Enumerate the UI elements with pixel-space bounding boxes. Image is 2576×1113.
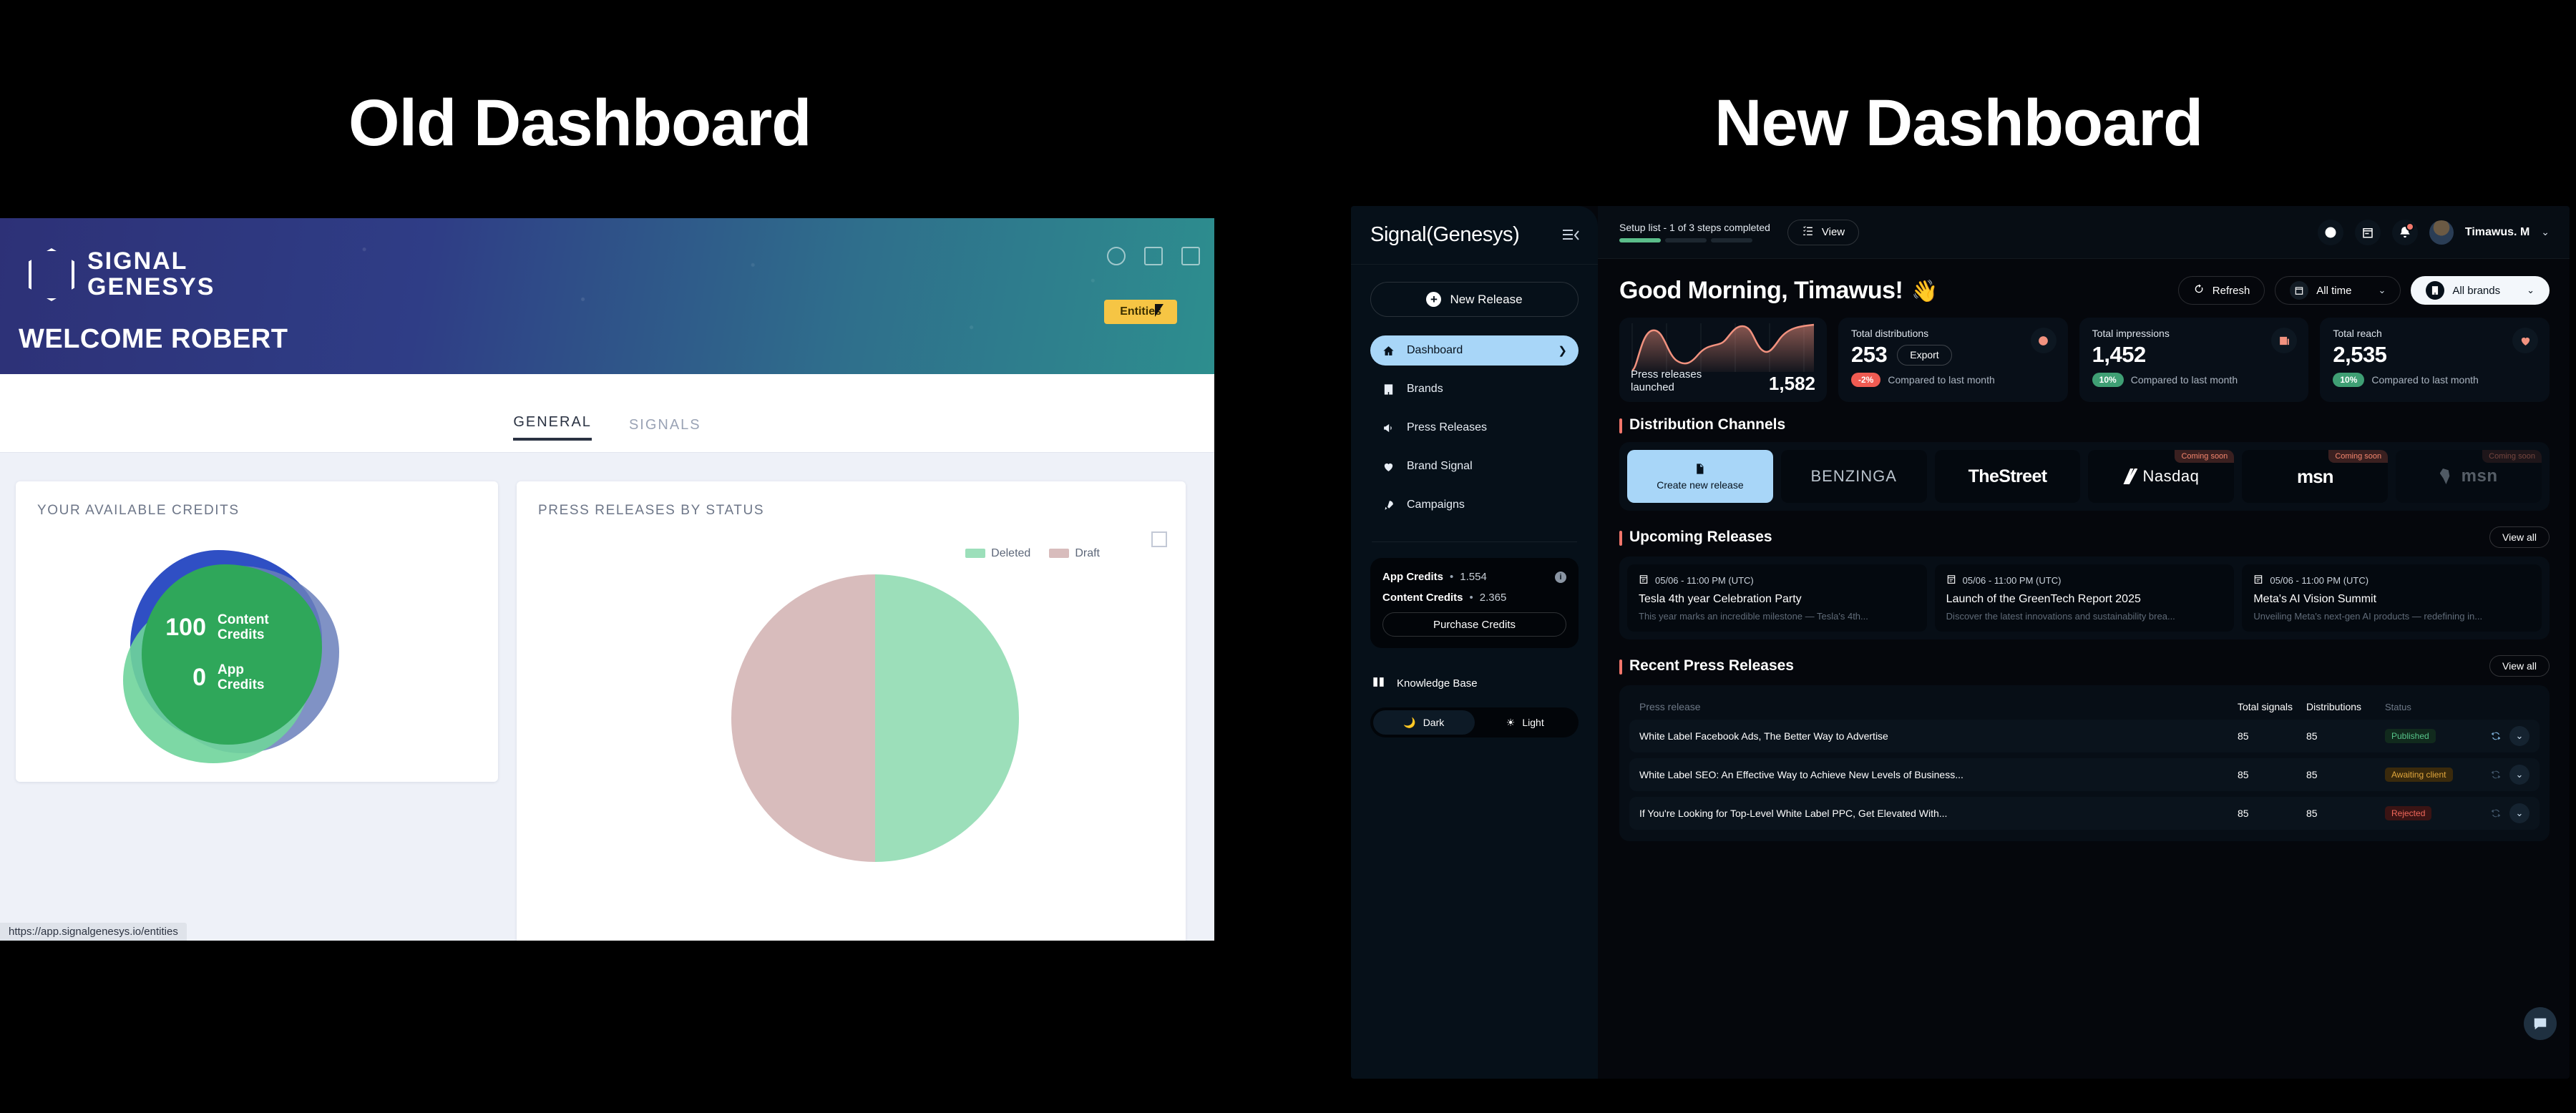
sparkline-chart (1619, 320, 1827, 375)
kpi-value: 1,452 (2092, 342, 2146, 368)
new-release-label: New Release (1450, 293, 1522, 307)
chevron-right-icon: ❯ (1558, 344, 1567, 357)
distribution-channels: Create new release BENZINGA TheStreet Co… (1619, 442, 2550, 511)
main-area: Setup list - 1 of 3 steps completed View (1598, 206, 2570, 1079)
setup-list-progress: Setup list - 1 of 3 steps completed (1619, 222, 1770, 242)
row-expand-chevron-icon[interactable]: ⌄ (2509, 803, 2529, 823)
kpi-title: Total impressions (2092, 328, 2296, 339)
resync-icon[interactable] (2489, 807, 2502, 820)
brand-line-2: GENESYS (87, 275, 215, 300)
sun-icon: ☀ (1506, 717, 1516, 729)
upcoming-release-desc: Discover the latest innovations and sust… (1946, 611, 2223, 622)
wave-emoji-icon: 👋 (1911, 280, 1938, 303)
brand-value: All brands (2452, 285, 2500, 297)
row-signals: 85 (2238, 730, 2306, 742)
create-new-release-tile[interactable]: Create new release (1627, 450, 1773, 503)
browser-status-bar-url: https://app.signalgenesys.io/entities (0, 923, 187, 941)
channel-benzinga[interactable]: BENZINGA (1781, 450, 1927, 503)
total-reach-card: Total reach 2,535 10% Compared to last m… (2320, 318, 2550, 402)
recent-press-releases-table: Press release Total signals Distribution… (1619, 685, 2550, 841)
moon-icon: 🌙 (1403, 717, 1415, 729)
recent-press-releases-title: Recent Press Releases (1619, 657, 1794, 675)
upcoming-release-date: 05/06 - 11:00 PM (UTC) (1963, 575, 2062, 586)
theme-option-light[interactable]: ☀ Light (1475, 710, 1576, 735)
upcoming-releases-title: Upcoming Releases (1619, 529, 1772, 546)
sidebar-item-label: Dashboard (1407, 344, 1463, 357)
status-badge: Awaiting client (2385, 768, 2453, 782)
legend-deleted: Deleted (965, 547, 1030, 560)
view-label: View (1822, 226, 1845, 238)
credits-separator: • (1450, 571, 1453, 583)
rocket-icon (1382, 499, 1395, 512)
time-range-select[interactable]: All time ⌄ (2275, 276, 2401, 305)
upcoming-release-title: Tesla 4th year Celebration Party (1639, 593, 1916, 606)
delta-badge: -2% (1851, 373, 1880, 387)
sidebar-item-knowledge-base[interactable]: Knowledge Base (1372, 675, 1579, 692)
app-credits-label: AppCredits (218, 663, 264, 693)
old-tab-bar[interactable]: GENERAL SIGNALS (0, 374, 1214, 453)
comparison-page: Old Dashboard New Dashboard SIGNAL GENES… (0, 0, 2576, 1113)
channel-thestreet[interactable]: TheStreet (1935, 450, 2081, 503)
sidebar-item-dashboard[interactable]: Dashboard ❯ (1370, 335, 1579, 366)
status-badge: Rejected (2385, 806, 2431, 820)
purchase-credits-button[interactable]: Purchase Credits (1382, 612, 1566, 637)
app-credits-value: 0 (165, 664, 206, 692)
resync-icon[interactable] (2489, 768, 2502, 781)
credits-card: App Credits • 1.554 i Content Credits • … (1370, 558, 1579, 648)
eye-icon (2031, 328, 2057, 353)
brand-select[interactable]: All brands ⌄ (2411, 276, 2550, 305)
nasdaq-logo: Nasdaq (2123, 467, 2199, 486)
chevron-down-icon: ⌄ (2527, 285, 2534, 296)
chat-support-button[interactable] (2524, 1007, 2557, 1040)
home-icon (1382, 344, 1395, 358)
column-press-release: Press release (1639, 701, 2238, 712)
building-icon (1382, 383, 1395, 396)
total-impressions-card: Total impressions 1,452 10% Compared to … (2079, 318, 2309, 402)
row-signals: 85 (2238, 808, 2306, 819)
avatar[interactable] (2429, 220, 2454, 245)
file-plus-icon (1694, 462, 1706, 476)
chevron-down-icon: ⌄ (2378, 285, 2386, 296)
msn-logo: msn (2440, 466, 2498, 486)
calendar-icon (2290, 281, 2308, 300)
row-title: White Label SEO: An Effective Way to Ach… (1639, 769, 2238, 780)
app-credits-label: App Credits (1382, 571, 1443, 583)
row-distributions: 85 (2306, 730, 2385, 742)
calendar-icon (2253, 574, 2263, 587)
old-brand-logo: SIGNAL GENESYS (29, 248, 215, 301)
table-row[interactable]: White Label SEO: An Effective Way to Ach… (1629, 758, 2540, 791)
content-credits-row: Content Credits • 2.365 (1382, 592, 1566, 604)
page-title: Good Morning, Timawus!👋 (1619, 277, 1938, 305)
content-credits-row: 100 ContentCredits (165, 613, 269, 643)
setup-progress-bars (1619, 238, 1770, 242)
table-header: Press release Total signals Distribution… (1629, 694, 2540, 720)
app-credits-row: App Credits • 1.554 i (1382, 571, 1566, 583)
compare-label: Compared to last month (2131, 374, 2238, 386)
recent-view-all-button[interactable]: View all (2489, 655, 2550, 677)
collapse-sidebar-icon[interactable] (1562, 228, 1579, 242)
fullscreen-icon[interactable] (1181, 247, 1200, 265)
sidebar-logo[interactable]: Signal(Genesys) (1370, 223, 1519, 247)
upcoming-release-title: Meta's AI Vision Summit (2253, 593, 2530, 606)
book-icon[interactable] (1144, 247, 1163, 265)
status-badge: Published (2385, 729, 2436, 743)
chevron-down-icon[interactable]: ⌄ (2541, 226, 2550, 238)
resync-icon[interactable] (2489, 730, 2502, 742)
old-hero-icon-group[interactable] (1107, 247, 1200, 265)
sidebar-item-label: Brands (1407, 383, 1443, 396)
press-releases-launched-card: Press releases launched 1,582 (1619, 318, 1827, 402)
channel-nasdaq[interactable]: Coming soon Nasdaq (2088, 450, 2234, 503)
available-credits-card: YOUR AVAILABLE CREDITS 100 ContentCredit… (16, 481, 498, 782)
coming-soon-badge: Coming soon (2328, 450, 2388, 463)
benzinga-logo: BENZINGA (1811, 467, 1897, 486)
building-icon (2426, 281, 2444, 300)
help-icon[interactable] (1107, 247, 1126, 265)
greeting-text: Good Morning, Timawus! (1619, 277, 1903, 304)
notification-badge (2406, 222, 2414, 231)
sidebar-item-brand-signal[interactable]: Brand Signal (1370, 451, 1579, 481)
table-row[interactable]: If You're Looking for Top-Level White La… (1629, 797, 2540, 830)
sidebar-item-campaigns[interactable]: Campaigns (1370, 490, 1579, 520)
sidebar-item-label: Campaigns (1407, 499, 1465, 511)
old-dashboard-screenshot: SIGNAL GENESYS Entities WELCOME ROBERT G… (0, 218, 1214, 941)
theme-toggle[interactable]: 🌙 Dark ☀ Light (1370, 707, 1579, 737)
view-setup-button[interactable]: View (1787, 220, 1859, 245)
kpi-value: 2,535 (2333, 342, 2386, 368)
credits-separator: • (1470, 592, 1473, 604)
new-release-button[interactable]: + New Release (1370, 282, 1579, 317)
column-distributions: Distributions (2306, 701, 2385, 712)
compare-label: Compared to last month (1888, 374, 1994, 386)
row-distributions: 85 (2306, 808, 2385, 819)
upcoming-release-date: 05/06 - 11:00 PM (UTC) (2270, 575, 2368, 586)
tab-signals[interactable]: SIGNALS (629, 417, 701, 441)
channel-msn[interactable]: Coming soon msn (2396, 450, 2542, 503)
row-expand-chevron-icon[interactable]: ⌄ (2509, 765, 2529, 785)
kpi-value: 253 (1851, 342, 1887, 368)
refresh-icon (2193, 283, 2205, 298)
content-credits-label: ContentCredits (218, 613, 269, 643)
megaphone-icon (1382, 421, 1395, 435)
press-releases-by-status-card: PRESS RELEASES BY STATUS Deleted Draft (517, 481, 1186, 941)
delta-badge: 10% (2092, 373, 2124, 387)
compare-label: Compared to last month (2371, 374, 2478, 386)
column-status: Status (2385, 702, 2471, 712)
total-distributions-card: Total distributions 253 Export -2% Compa… (1838, 318, 2068, 402)
checklist-icon (1802, 225, 1814, 240)
coming-soon-badge: Coming soon (2482, 450, 2542, 463)
table-row[interactable]: White Label Facebook Ads, The Better Way… (1629, 720, 2540, 752)
status-pie-chart (731, 574, 1019, 862)
refresh-label: Refresh (2212, 285, 2250, 297)
kpi-title: Total distributions (1851, 328, 2055, 339)
status-legend: Deleted Draft (965, 547, 1100, 560)
row-signals: 85 (2238, 769, 2306, 780)
export-icon[interactable] (1151, 531, 1167, 547)
nasdaq-mark-icon (2123, 469, 2137, 484)
heart-icon (1382, 460, 1395, 474)
app-credits-value: 1.554 (1460, 571, 1487, 583)
distribution-channels-title: Distribution Channels (1619, 416, 1785, 433)
book-icon (1372, 675, 1385, 692)
content-credits-value: 2.365 (1480, 592, 1507, 604)
kpi-title: Total reach (2333, 328, 2537, 339)
old-hero-banner: SIGNAL GENESYS Entities WELCOME ROBERT (0, 218, 1214, 374)
tab-general[interactable]: GENERAL (513, 414, 592, 441)
export-button[interactable]: Export (1897, 345, 1951, 366)
heart-icon (2512, 328, 2538, 353)
app-credits-row: 0 AppCredits (165, 663, 269, 693)
theme-option-dark[interactable]: 🌙 Dark (1373, 710, 1475, 735)
upcoming-release-card[interactable]: 05/06 - 11:00 PM (UTC) Launch of the Gre… (1935, 564, 2235, 632)
user-name[interactable]: Timawus. M (2465, 226, 2529, 239)
new-dashboard-heading: New Dashboard (1714, 86, 2202, 161)
time-range-value: All time (2316, 285, 2351, 297)
mouse-cursor-icon (1155, 304, 1169, 317)
brand-line-1: SIGNAL (87, 249, 215, 275)
upcoming-release-card[interactable]: 05/06 - 11:00 PM (UTC) Tesla 4th year Ce… (1627, 564, 1927, 632)
delta-badge: 10% (2333, 373, 2364, 387)
stat-cards: Press releases launched 1,582 Total dist… (1619, 318, 2550, 402)
legend-draft: Draft (1049, 547, 1100, 560)
row-title: If You're Looking for Top-Level White La… (1639, 808, 2238, 819)
sidebar-item-label: Brand Signal (1407, 460, 1473, 473)
chat-icon (2532, 1016, 2548, 1031)
sidebar-item-label: Press Releases (1407, 421, 1487, 434)
upcoming-release-desc: Unveiling Meta's next-gen AI products — … (2253, 611, 2530, 622)
upcoming-release-card[interactable]: 05/06 - 11:00 PM (UTC) Meta's AI Vision … (2242, 564, 2542, 632)
notifications-bell-icon[interactable] (2392, 220, 2418, 245)
yahoo-logo: msn (2297, 466, 2333, 488)
old-dashboard-heading: Old Dashboard (348, 86, 811, 161)
row-distributions: 85 (2306, 769, 2385, 780)
press-releases-by-status-title: PRESS RELEASES BY STATUS (517, 481, 1186, 519)
old-welcome-text: WELCOME ROBERT (19, 324, 288, 355)
refresh-button[interactable]: Refresh (2178, 276, 2265, 305)
sidebar-divider (1372, 541, 1577, 542)
credits-blob-chart: 100 ContentCredits 0 AppCredits (123, 547, 359, 762)
upcoming-release-title: Launch of the GreenTech Report 2025 (1946, 593, 2223, 606)
info-icon[interactable]: i (1555, 572, 1566, 583)
sidebar-item-press-releases[interactable]: Press Releases (1370, 413, 1579, 443)
entities-button[interactable]: Entities (1104, 300, 1177, 324)
column-total-signals: Total signals (2238, 701, 2306, 712)
calendar-icon[interactable] (2355, 220, 2381, 245)
available-credits-title: YOUR AVAILABLE CREDITS (16, 481, 498, 519)
upcoming-release-desc: This year marks an incredible milestone … (1639, 611, 1916, 622)
setup-list-text: Setup list - 1 of 3 steps completed (1619, 222, 1770, 233)
row-title: White Label Facebook Ads, The Better Way… (1639, 730, 2238, 742)
coming-soon-badge: Coming soon (2175, 450, 2234, 463)
create-new-release-label: Create new release (1657, 479, 1743, 491)
new-dashboard-screenshot: Signal(Genesys) + New Release Dashboard … (1351, 206, 2570, 1079)
msn-mark-icon (2440, 469, 2456, 484)
spark-label: Press releases launched (1631, 368, 1724, 396)
calendar-icon (1946, 574, 1956, 587)
sidebar-item-brands[interactable]: Brands (1370, 374, 1579, 404)
content-credits-value: 100 (165, 614, 206, 642)
content-credits-label: Content Credits (1382, 592, 1463, 604)
row-expand-chevron-icon[interactable]: ⌄ (2509, 726, 2529, 746)
thestreet-logo: TheStreet (1968, 466, 2047, 487)
spark-value: 1,582 (1769, 373, 1815, 395)
calendar-icon (1639, 574, 1649, 587)
support-icon[interactable] (2318, 220, 2343, 245)
knowledge-base-label: Knowledge Base (1397, 677, 1478, 690)
signal-genesys-logo-icon (29, 248, 74, 301)
upcoming-releases-list: 05/06 - 11:00 PM (UTC) Tesla 4th year Ce… (1619, 556, 2550, 639)
upcoming-view-all-button[interactable]: View all (2489, 526, 2550, 548)
sidebar: Signal(Genesys) + New Release Dashboard … (1351, 206, 1598, 1079)
plus-icon: + (1426, 292, 1441, 307)
top-bar: Setup list - 1 of 3 steps completed View (1598, 206, 2570, 259)
upcoming-release-date: 05/06 - 11:00 PM (UTC) (1655, 575, 1754, 586)
channel-yahoo[interactable]: Coming soon msn (2242, 450, 2388, 503)
